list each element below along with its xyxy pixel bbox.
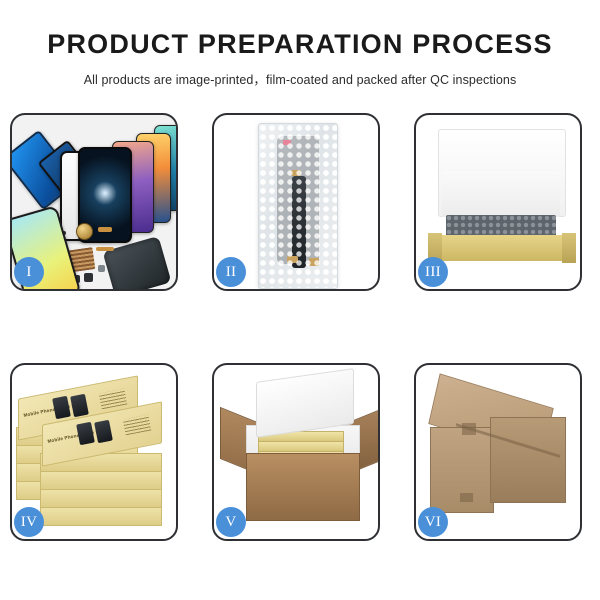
flex-cable-2	[96, 247, 114, 251]
page-header: PRODUCT PREPARATION PROCESS All products…	[0, 0, 600, 88]
tray-end-right	[562, 233, 576, 263]
process-step-5[interactable]: V	[212, 363, 380, 541]
carton-flap-notch-bottom	[460, 493, 473, 502]
step-badge-3: III	[418, 257, 448, 287]
bubble-wrap-pouch	[258, 123, 338, 289]
step-badge-1: I	[14, 257, 44, 287]
process-step-grid: I II III	[10, 113, 590, 541]
page-title: PRODUCT PREPARATION PROCESS	[0, 30, 600, 60]
taptic-engine-part	[76, 223, 93, 240]
step-badge-5: V	[216, 507, 246, 537]
process-step-4[interactable]: Mobile Phone Spare Parts Mobile Phone Sp…	[10, 363, 178, 541]
phone-back-housing	[103, 236, 172, 289]
flex-cable-1	[98, 227, 112, 232]
process-step-6[interactable]: VI	[414, 363, 582, 541]
kraft-tray	[434, 235, 568, 261]
step-badge-4: IV	[14, 507, 44, 537]
sim-tray-part	[98, 265, 105, 272]
carton-right-face	[490, 417, 566, 503]
connector-2	[287, 256, 298, 263]
stack-box-f2	[40, 471, 162, 490]
foam-padding	[442, 171, 560, 217]
carton-body	[246, 453, 360, 521]
page-subtitle: All products are image-printed，film-coat…	[0, 69, 600, 88]
connector-1	[291, 170, 301, 176]
vibrator-part	[84, 273, 93, 282]
stack-box-f3	[40, 489, 162, 508]
stack-box-f4	[40, 507, 162, 526]
step-badge-2: II	[216, 257, 246, 287]
process-step-1[interactable]: I	[10, 113, 178, 291]
step-badge-6: VI	[418, 507, 448, 537]
carton-flap-notch-top	[462, 423, 476, 435]
process-step-3[interactable]: III	[414, 113, 582, 291]
connector-3	[309, 258, 319, 266]
label-sticker	[283, 140, 291, 145]
process-step-2[interactable]: II	[212, 113, 380, 291]
wrapped-flex-cable	[292, 176, 306, 268]
